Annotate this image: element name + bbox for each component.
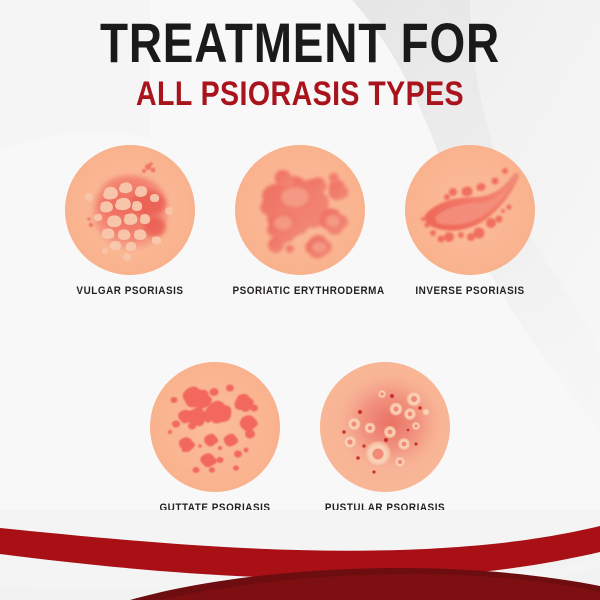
type-label-vulgar: VULGAR PSORIASIS [63, 285, 198, 297]
pustules-circle-icon [320, 362, 450, 492]
page-title: TREATMENT FOR [54, 14, 546, 72]
type-label-erythroderma: PSORIATIC ERYTHRODERMA [233, 285, 368, 297]
spreading-blotches-circle-icon [235, 145, 365, 275]
type-label-inverse: INVERSE PSORIASIS [403, 285, 538, 297]
type-card-guttate[interactable]: GUTTATE PSORIASIS [140, 362, 290, 514]
type-card-inverse[interactable]: INVERSE PSORIASIS [395, 145, 545, 297]
type-card-vulgar[interactable]: VULGAR PSORIASIS [55, 145, 205, 297]
plaque-scales-circle-icon [65, 145, 195, 275]
skin-fold-streak-circle-icon [405, 145, 535, 275]
type-card-erythroderma[interactable]: PSORIATIC ERYTHRODERMA [225, 145, 375, 297]
bottom-ribbon [0, 510, 600, 600]
page-title-block: TREATMENT FOR ALL PSIORASIS TYPES [0, 14, 600, 112]
infographic-poster: TREATMENT FOR ALL PSIORASIS TYPES [0, 0, 600, 600]
page-subtitle: ALL PSIORASIS TYPES [48, 76, 552, 112]
scattered-droplets-circle-icon [150, 362, 280, 492]
type-card-pustular[interactable]: PUSTULAR PSORIASIS [310, 362, 460, 514]
